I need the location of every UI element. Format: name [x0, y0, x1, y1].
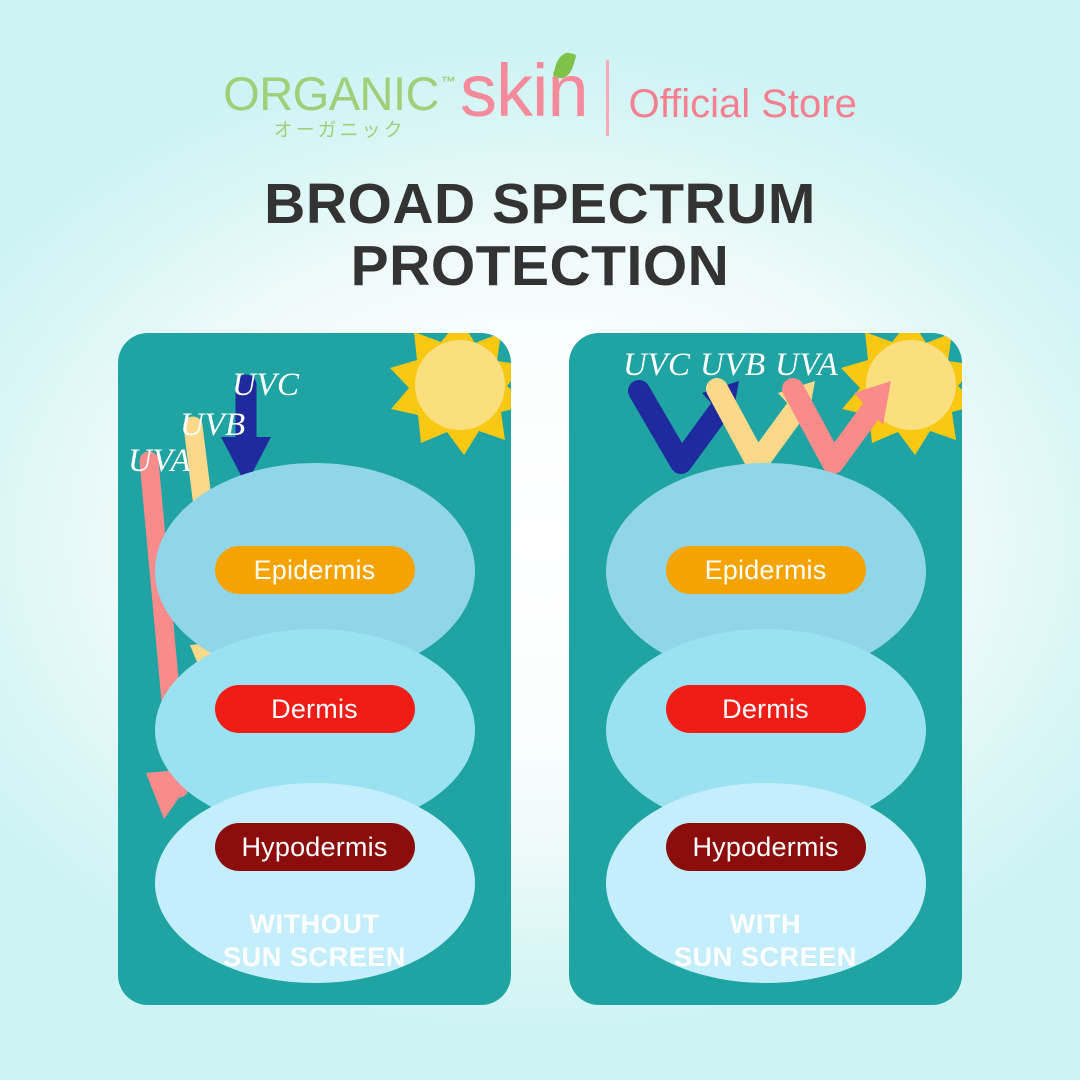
caption-line-2: SUN SCREEN: [223, 942, 406, 972]
caption-line-1: WITH: [730, 909, 801, 939]
uva-ray-bounce-arrow: [793, 381, 891, 463]
organic-kana-label: オーガニック: [274, 115, 406, 142]
caption-line-1: WITHOUT: [249, 909, 379, 939]
uv-label-uvc: UVC: [232, 367, 300, 404]
layer-pill-dermis: Dermis: [215, 685, 415, 733]
layer-pill-dermis: Dermis: [666, 685, 866, 733]
uv-label-uvc: UVC: [623, 347, 691, 384]
panel-with-sunscreen: UVC UVB UVA Epidermis Dermis Hypodermis …: [569, 333, 962, 1005]
logo-divider: [606, 60, 609, 136]
layer-pill-epidermis: Epidermis: [666, 546, 866, 594]
organic-text-line: ORGANIC ™: [223, 72, 456, 117]
uv-label-uva: UVA: [775, 347, 838, 384]
panel-caption-without: WITHOUT SUN SCREEN: [118, 908, 511, 976]
skin-wordmark: skin: [460, 54, 588, 128]
page-title: BROAD SPECTRUM PROTECTION: [0, 174, 1080, 297]
caption-line-2: SUN SCREEN: [674, 942, 857, 972]
infographic-canvas: ORGANIC ™ オーガニック skin Official Store BRO…: [0, 0, 1080, 1080]
layer-pill-epidermis: Epidermis: [215, 546, 415, 594]
organic-wordmark: ORGANIC ™ オーガニック: [223, 72, 456, 142]
official-store-label: Official Store: [629, 82, 857, 127]
title-line-1: BROAD SPECTRUM: [264, 172, 816, 236]
trademark-icon: ™: [441, 74, 456, 91]
uv-label-uvb: UVB: [700, 347, 766, 384]
title-line-2: PROTECTION: [0, 236, 1080, 298]
panel-caption-with: WITH SUN SCREEN: [569, 908, 962, 976]
organic-label: ORGANIC: [223, 72, 439, 117]
panel-without-sunscreen: UVC UVB UVA Epidermis Dermis Hypodermis …: [118, 333, 511, 1005]
uv-label-uva: UVA: [128, 443, 191, 480]
uv-label-uvb: UVB: [180, 407, 246, 444]
brand-logo: ORGANIC ™ オーガニック skin Official Store: [0, 58, 1080, 142]
layer-pill-hypodermis: Hypodermis: [666, 823, 866, 871]
layer-pill-hypodermis: Hypodermis: [215, 823, 415, 871]
